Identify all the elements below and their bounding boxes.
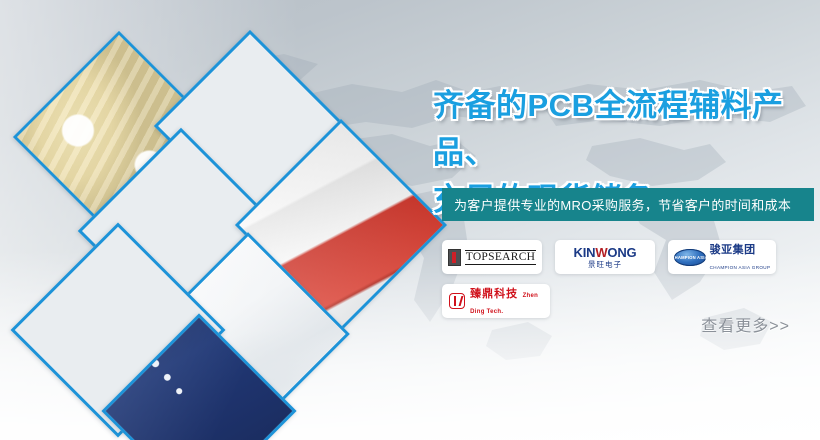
kinwong-label-cn: 景旺电子 (574, 261, 637, 269)
champion-asia-globe-text: CHAMPION ASIA (671, 255, 707, 260)
kinwong-wordmark: KINWONG (574, 246, 637, 259)
zhen-ding-mark-icon (449, 293, 465, 309)
product-collage: JIE (0, 0, 470, 440)
view-more-link[interactable]: 查看更多>> (701, 312, 790, 336)
kinwong-text-left: KIN (574, 245, 596, 260)
partner-logo-row-1: TOPSEARCH KINWONG 景旺电子 CHAMPION ASIA (442, 240, 820, 274)
champion-asia-label-en: CHAMPION ASIA GROUP (710, 265, 771, 270)
partner-logo-zhen-ding[interactable]: 臻鼎科技 Zhen Ding Tech. (442, 284, 550, 318)
champion-asia-label-cn: 骏亚集团 (710, 244, 756, 256)
kinwong-text-right: ONG (607, 245, 636, 260)
partner-logo-kinwong[interactable]: KINWONG 景旺电子 (555, 240, 655, 274)
promo-banner: JIE 齐备的PCB全流程辅料产品、 充足的现货储备 为客户提供专业的MRO采购… (0, 0, 820, 440)
banner-subtitle-text: 为客户提供专业的MRO采购服务，节省客户的时间和成本 (454, 195, 791, 214)
banner-subtitle-bar: 为客户提供专业的MRO采购服务，节省客户的时间和成本 (442, 188, 814, 221)
zhen-ding-label-cn: 臻鼎科技 (470, 288, 518, 300)
partner-logo-champion-asia[interactable]: CHAMPION ASIA 骏亚集团 CHAMPION ASIA GROUP (668, 240, 776, 274)
banner-content: 齐备的PCB全流程辅料产品、 充足的现货储备 为客户提供专业的MRO采购服务，节… (430, 0, 820, 440)
kinwong-text-mid: W (595, 245, 607, 260)
globe-icon: CHAMPION ASIA (674, 249, 706, 266)
topsearch-mark-icon (448, 249, 461, 266)
partner-logo-topsearch[interactable]: TOPSEARCH (442, 240, 542, 274)
topsearch-label: TOPSEARCH (465, 250, 537, 265)
